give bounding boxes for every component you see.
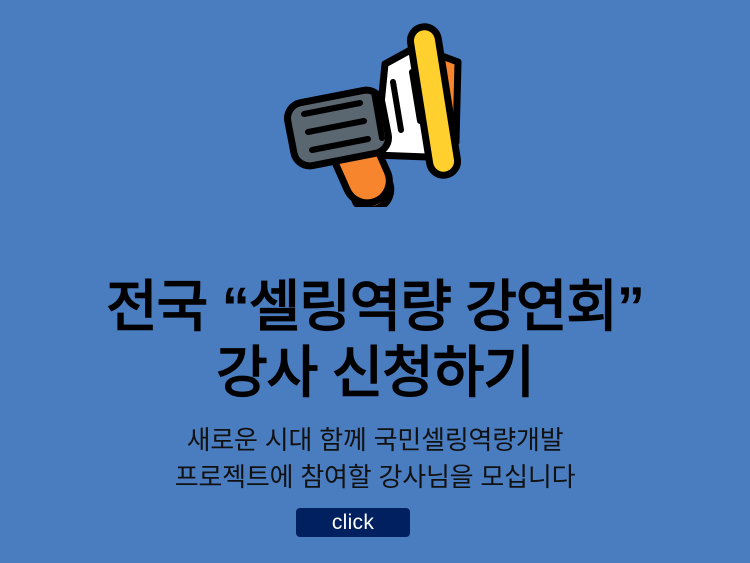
subtitle: 새로운 시대 함께 국민셀링역량개발 프로젝트에 참여할 강사님을 모십니다 — [0, 422, 750, 496]
click-button[interactable]: click — [296, 508, 410, 537]
megaphone-icon — [278, 22, 478, 207]
subtitle-line-2: 프로젝트에 참여할 강사님을 모십니다 — [0, 459, 750, 496]
headline: 전국 “셀링역량 강연회” 강사 신청하기 — [0, 274, 750, 406]
megaphone-icon-group — [285, 25, 460, 207]
headline-line-2: 강사 신청하기 — [0, 340, 750, 406]
promo-banner: 전국 “셀링역량 강연회” 강사 신청하기 새로운 시대 함께 국민셀링역량개발… — [0, 0, 750, 563]
subtitle-line-1: 새로운 시대 함께 국민셀링역량개발 — [0, 422, 750, 459]
headline-line-1: 전국 “셀링역량 강연회” — [0, 274, 750, 340]
